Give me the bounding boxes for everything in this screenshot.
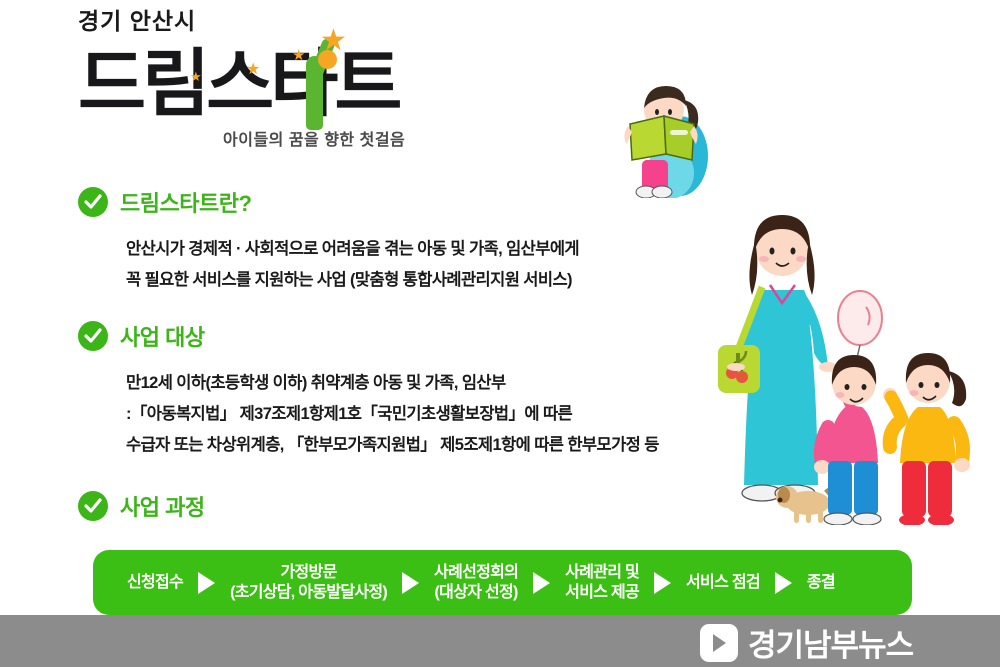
watermark: 경기남부뉴스 [700,620,913,665]
section-title: 사업 과정 [120,490,205,522]
process-step-label: 신청접수 [127,574,183,591]
process-step-label: 사례선정회의 [434,564,518,581]
city-name: 경기 안산시 [78,8,498,36]
section-what-is-dreamstart: 드림스타트란? 안산시가 경제적 · 사회적으로 어려움을 겪는 아동 및 가족… [78,186,579,296]
check-circle-icon [78,321,108,351]
section-body: 만12세 이하(초등학생 이하) 취약계층 아동 및 가족, 임산부 :「아동복… [126,368,659,461]
body-line: :「아동복지법」 제37조제1항제1호「국민기초생활보장법」에 따른 [126,399,659,430]
section-header: 드림스타트란? [78,186,579,218]
process-flow-bar: 신청접수 가정방문 (초기상담, 아동발달사정) 사례선정회의 (대상자 선정)… [93,550,912,615]
process-step-sublabel: (초기상담, 아동발달사정) [230,583,387,603]
arrow-right-icon [654,572,671,594]
process-step-6: 종결 [801,573,841,593]
section-title: 드림스타트란? [120,186,251,218]
process-step-sublabel: 서비스 제공 [565,583,639,603]
process-step-4: 사례관리 및 서비스 제공 [559,563,645,603]
process-step-sublabel: (대상자 선정) [434,583,518,603]
brand-logo: 경기 안산시 드림스타트 ★ ★ ★ ★ 아이들의 꿈을 향한 첫걸음 [78,8,498,150]
section-title: 사업 대상 [120,320,205,352]
arrow-right-icon [198,572,215,594]
process-step-2: 가정방문 (초기상담, 아동발달사정) [224,563,393,603]
star-icon: ★ [292,48,305,63]
section-header: 사업 과정 [78,490,205,522]
section-body: 안산시가 경제적 · 사회적으로 어려움을 겪는 아동 및 가족, 임산부에게 … [126,234,579,296]
star-icon: ★ [246,62,260,78]
body-line: 수급자 또는 차상위계층, 「한부모가족지원법」 제5조제1항에 따른 한부모가… [126,430,659,461]
body-line: 꼭 필요한 서비스를 지원하는 사업 (맞춤형 통합사례관리지원 서비스) [126,265,579,296]
family-illustration [700,195,1000,525]
check-circle-icon [78,491,108,521]
body-line: 안산시가 경제적 · 사회적으로 어려움을 겪는 아동 및 가족, 임산부에게 [126,234,579,265]
section-header: 사업 대상 [78,320,659,352]
process-step-label: 종결 [807,574,835,591]
arrow-right-icon [775,572,792,594]
process-step-5: 서비스 점검 [680,573,766,593]
child-reading-illustration [608,78,718,198]
logo-wordmark-text: 드림스타트 [78,38,408,130]
logo-person-icon: ★ ★ ★ ★ [288,34,342,130]
check-circle-icon [78,187,108,217]
section-target-audience: 사업 대상 만12세 이하(초등학생 이하) 취약계층 아동 및 가족, 임산부… [78,320,659,461]
process-step-label: 가정방문 [281,564,337,581]
star-icon: ★ [190,70,202,83]
process-step-label: 서비스 점검 [686,574,760,591]
body-line: 만12세 이하(초등학생 이하) 취약계층 아동 및 가족, 임산부 [126,368,659,399]
infographic-page: 경기 안산시 드림스타트 ★ ★ ★ ★ 아이들의 꿈을 향한 첫걸음 [0,0,1000,667]
logo-wordmark: 드림스타트 ★ ★ ★ ★ [78,38,408,130]
process-step-1: 신청접수 [121,573,189,593]
arrow-right-icon [402,572,419,594]
section-process: 사업 과정 [78,490,205,522]
process-step-3: 사례선정회의 (대상자 선정) [428,563,524,603]
watermark-text: 경기남부뉴스 [748,620,913,665]
star-icon: ★ [320,26,347,56]
arrow-right-icon [533,572,550,594]
play-logo-icon [700,624,738,662]
process-step-label: 사례관리 및 [565,564,639,581]
